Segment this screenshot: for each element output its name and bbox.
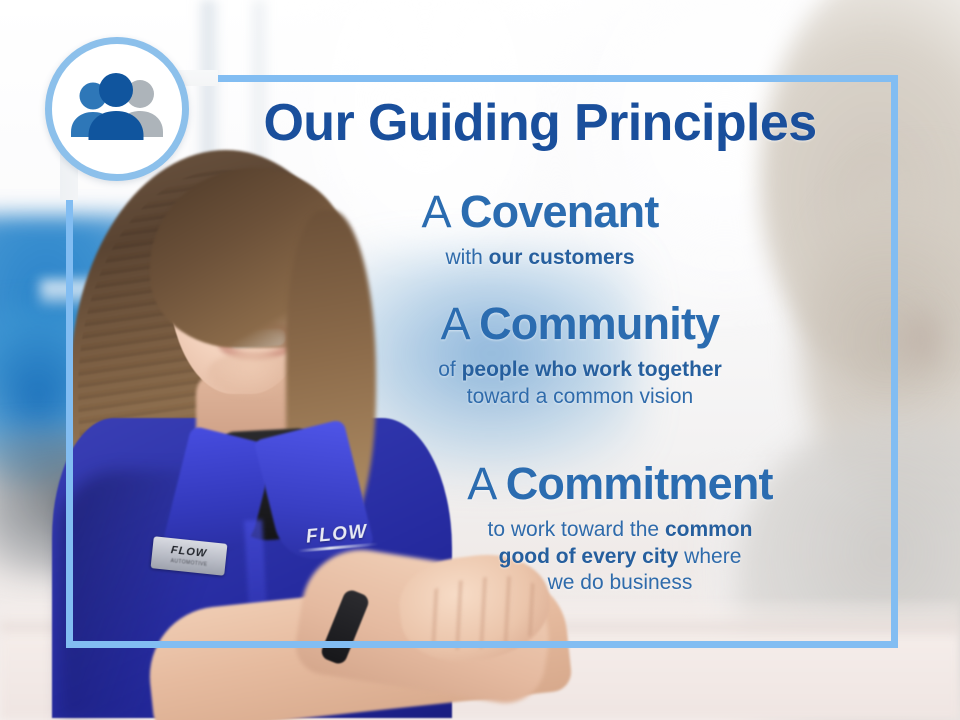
subtitle-part: of — [438, 358, 461, 381]
principle-covenant-heading: A Covenant — [280, 188, 800, 236]
principle-covenant-article: A — [421, 186, 459, 237]
subtitle-part-bold: common — [665, 518, 753, 541]
subtitle-line: good of every city where — [340, 544, 900, 571]
principle-commitment-subtitle: to work toward the common good of every … — [340, 517, 900, 598]
subtitle-part: where — [678, 545, 741, 568]
subtitle-line: we do business — [340, 570, 900, 597]
text-content: Our Guiding Principles A Covenant with o… — [0, 0, 960, 720]
principle-community-heading: A Community — [300, 300, 860, 348]
subtitle-line: of people who work together — [300, 357, 860, 384]
principle-commitment-keyword: Commitment — [506, 458, 773, 509]
subtitle-part: toward a common vision — [467, 385, 693, 408]
principle-commitment-heading: A Commitment — [340, 460, 900, 508]
subtitle-line: toward a common vision — [300, 384, 860, 411]
subtitle-part: with — [445, 246, 488, 269]
principle-community-article: A — [441, 298, 479, 349]
subtitle-part-bold: good of every city — [499, 545, 679, 568]
principle-community: A Community of people who work together … — [300, 300, 860, 410]
page-title: Our Guiding Principles — [220, 97, 860, 149]
principle-covenant: A Covenant with our customers — [280, 188, 800, 272]
subtitle-line: with our customers — [280, 245, 800, 272]
banner-graphic: FLOW AUTOMOTIVE FLOW Our Guiding Princip… — [0, 0, 960, 720]
principle-commitment: A Commitment to work toward the common g… — [340, 460, 900, 597]
principle-commitment-article: A — [467, 458, 505, 509]
subtitle-part-bold: our customers — [489, 246, 635, 269]
subtitle-part: we do business — [548, 571, 693, 594]
subtitle-part: to work toward the — [488, 518, 665, 541]
principle-community-subtitle: of people who work together toward a com… — [300, 357, 860, 411]
principle-community-keyword: Community — [479, 298, 719, 349]
principle-covenant-keyword: Covenant — [460, 186, 659, 237]
subtitle-line: to work toward the common — [340, 517, 900, 544]
principle-covenant-subtitle: with our customers — [280, 245, 800, 272]
subtitle-part-bold: people who work together — [462, 358, 722, 381]
